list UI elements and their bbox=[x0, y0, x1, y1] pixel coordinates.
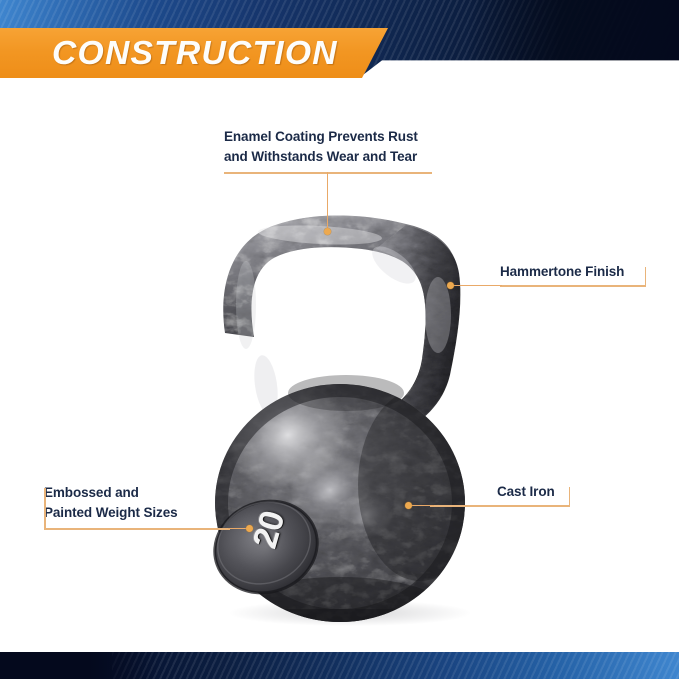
neck-shadow bbox=[288, 375, 404, 411]
callout-embossed-weight-anchor-dot bbox=[246, 525, 253, 532]
callout-cast-iron-leader bbox=[410, 505, 434, 506]
infographic-page: CONSTRUCTION bbox=[0, 0, 679, 679]
callout-enamel-coating-anchor-dot bbox=[324, 228, 331, 235]
callout-cast-iron-underline bbox=[430, 505, 570, 507]
callout-hammertone-finish-tick bbox=[645, 267, 647, 286]
callout-enamel-coating-leader bbox=[327, 172, 328, 232]
footer-diagonal-stripes bbox=[112, 652, 679, 679]
callout-enamel-coating-line1: Enamel Coating Prevents Rust bbox=[224, 128, 418, 146]
callout-embossed-weight-line2: Painted Weight Sizes bbox=[44, 504, 178, 522]
callout-hammertone-finish-anchor-dot bbox=[447, 282, 454, 289]
product-image-kettlebell: 20 bbox=[170, 185, 520, 635]
callout-cast-iron-label: Cast Iron bbox=[497, 483, 555, 501]
callout-cast-iron-anchor-dot bbox=[405, 502, 412, 509]
callout-embossed-weight-line1: Embossed and bbox=[44, 484, 139, 502]
callout-hammertone-finish-leader bbox=[452, 285, 502, 286]
callout-enamel-coating-line2: and Withstands Wear and Tear bbox=[224, 148, 417, 166]
callout-embossed-weight-tick bbox=[44, 488, 46, 529]
kettlebell-illustration bbox=[170, 185, 520, 635]
callout-cast-iron-tick bbox=[569, 487, 571, 506]
callout-hammertone-finish-label: Hammertone Finish bbox=[500, 263, 624, 281]
callout-hammertone-finish-underline bbox=[500, 285, 646, 287]
page-title: CONSTRUCTION bbox=[52, 31, 338, 75]
callout-embossed-weight-underline bbox=[44, 528, 230, 530]
footer-dark-overlay bbox=[0, 652, 160, 679]
footer-band bbox=[0, 652, 679, 679]
